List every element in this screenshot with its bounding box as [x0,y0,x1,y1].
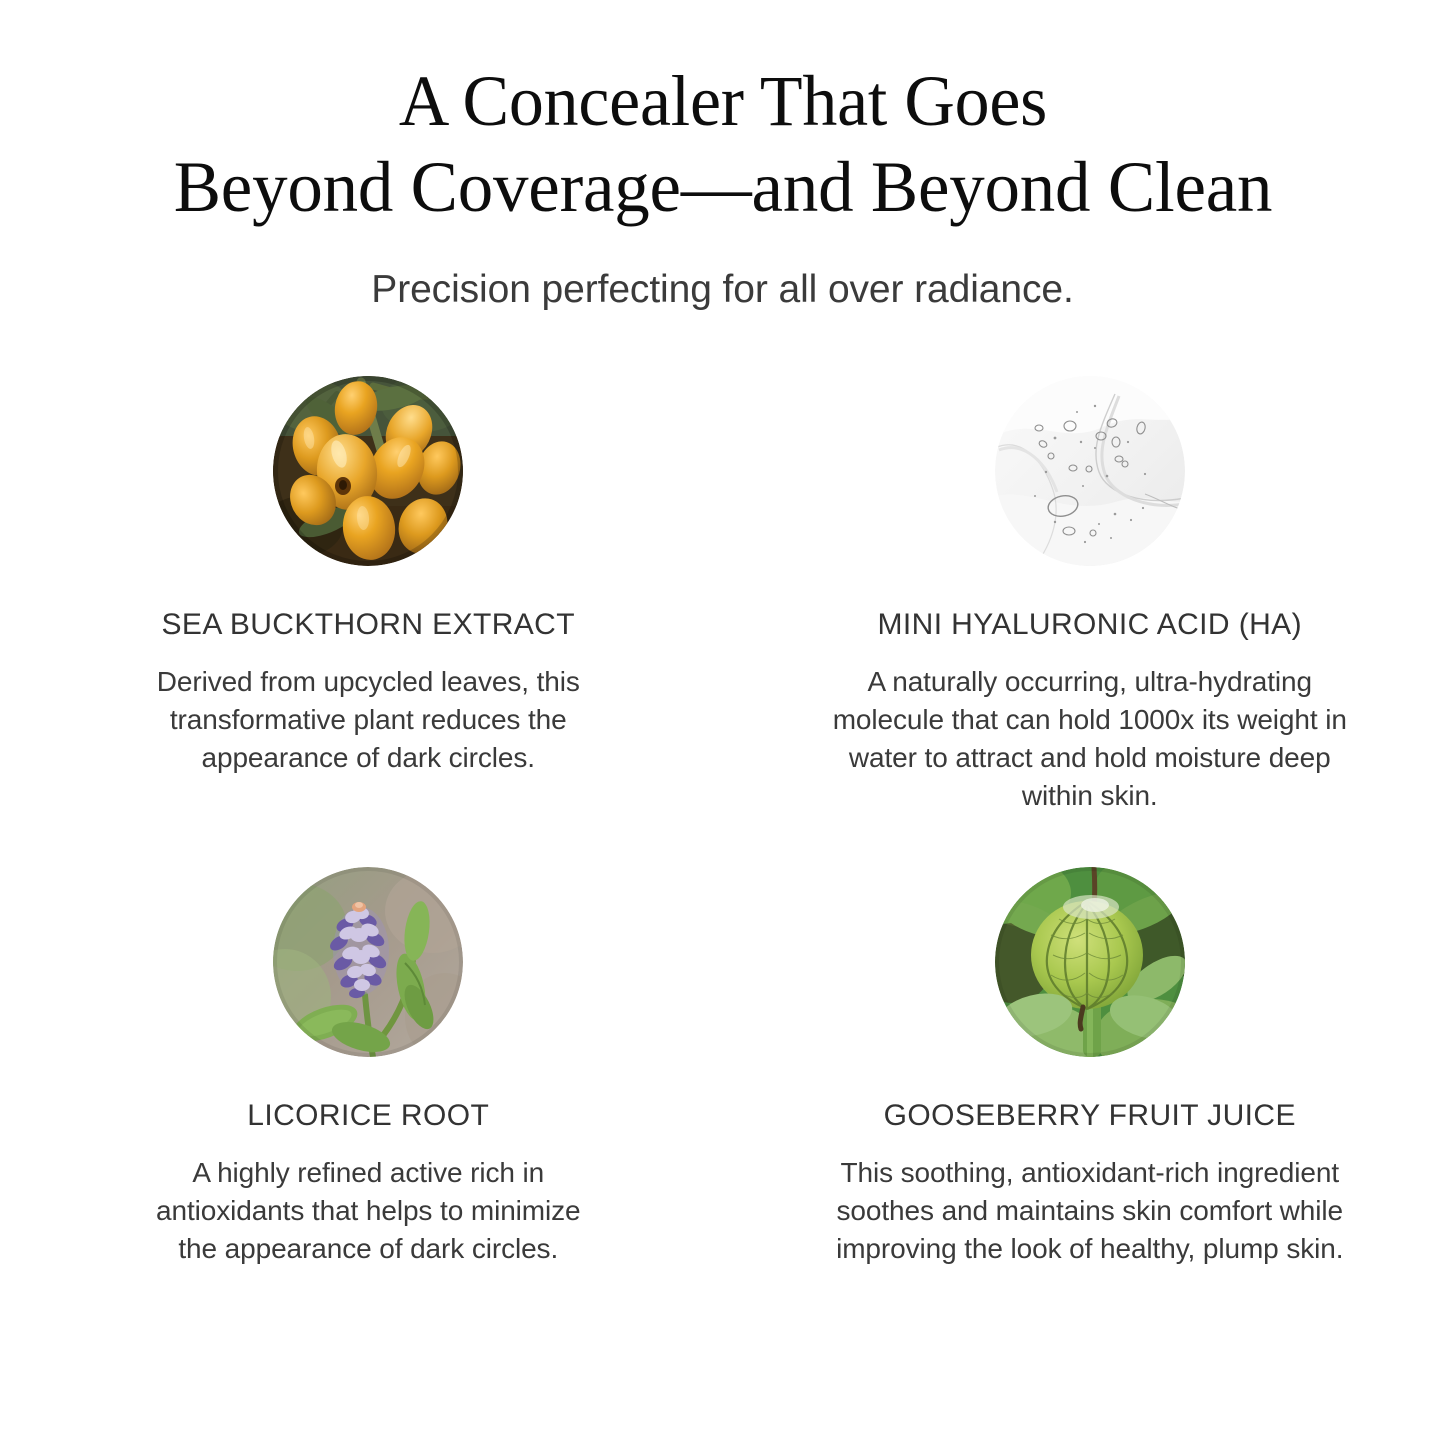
page-title: A Concealer That Goes Beyond Coverage—an… [83,58,1363,231]
ingredient-grid: SEA BUCKTHORN EXTRACT Derived from upcyc… [0,376,1445,1268]
ingredient-description: A highly refined active rich in antioxid… [133,1154,603,1268]
sea-buckthorn-berries-photo [273,376,463,566]
page-header: A Concealer That Goes Beyond Coverage—an… [0,0,1445,314]
gooseberry-fruit-husk-photo [995,867,1185,1057]
ingredient-card-licorice-root: LICORICE ROOT A highly refined active ri… [0,867,723,1268]
ingredient-card-gooseberry: GOOSEBERRY FRUIT JUICE This soothing, an… [723,867,1445,1268]
ingredient-card-sea-buckthorn: SEA BUCKTHORN EXTRACT Derived from upcyc… [0,376,723,815]
licorice-root-flower-photo [273,867,463,1057]
hyaluronic-acid-gel-texture-photo [995,376,1185,566]
page-title-line-2: Beyond Coverage—and Beyond Clean [92,144,1353,230]
marketing-ingredient-page: A Concealer That Goes Beyond Coverage—an… [0,0,1445,1445]
ingredient-title: GOOSEBERRY FRUIT JUICE [884,1099,1296,1132]
page-subtitle: Precision perfecting for all over radian… [0,267,1445,314]
page-title-line-1: A Concealer That Goes [102,58,1344,144]
ingredient-description: Derived from upcycled leaves, this trans… [133,663,603,777]
ingredient-title: LICORICE ROOT [247,1099,489,1132]
ingredient-title: SEA BUCKTHORN EXTRACT [162,608,575,641]
ingredient-card-hyaluronic-acid: MINI HYALURONIC ACID (HA) A naturally oc… [723,376,1445,815]
ingredient-description: This soothing, antioxidant-rich ingredie… [820,1154,1360,1268]
ingredient-description: A naturally occurring, ultra-hydrating m… [820,663,1360,815]
ingredient-title: MINI HYALURONIC ACID (HA) [878,608,1302,641]
